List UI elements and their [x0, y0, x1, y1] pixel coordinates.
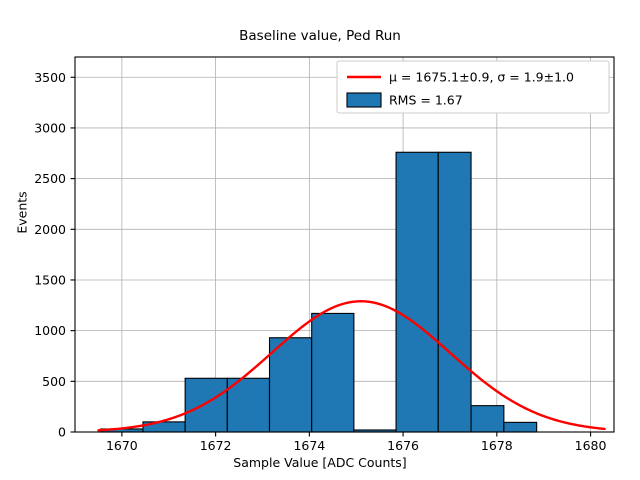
- y-tick-label: 1500: [34, 272, 66, 287]
- chart-figure: Baseline value, Ped Run 1670167216741676…: [0, 0, 640, 480]
- histogram-bar: [504, 422, 537, 432]
- x-tick-label: 1680: [575, 438, 607, 453]
- y-tick-label: 1000: [34, 323, 66, 338]
- legend-entry-label: μ = 1675.1±0.9, σ = 1.9±1.0: [389, 70, 574, 85]
- histogram-bar: [270, 338, 312, 432]
- x-tick-label: 1670: [106, 438, 138, 453]
- y-tick-label: 2000: [34, 222, 66, 237]
- histogram-bar: [438, 152, 471, 432]
- x-tick-label: 1678: [481, 438, 513, 453]
- chart-legend[interactable]: μ = 1675.1±0.9, σ = 1.9±1.0RMS = 1.67: [337, 61, 609, 113]
- y-tick-label: 2500: [34, 171, 66, 186]
- x-axis-label: Sample Value [ADC Counts]: [0, 455, 640, 470]
- histogram-bar: [185, 378, 227, 432]
- legend-entry-label: RMS = 1.67: [389, 93, 463, 108]
- x-tick-label: 1672: [200, 438, 232, 453]
- histogram-bar: [312, 313, 354, 432]
- histogram-bar: [396, 152, 438, 432]
- y-axis-label: Events: [15, 163, 30, 263]
- x-tick-label: 1676: [387, 438, 419, 453]
- legend-patch-marker: [347, 93, 381, 107]
- y-tick-label: 500: [42, 374, 66, 389]
- histogram-bars: [101, 152, 537, 432]
- x-tick-label: 1674: [293, 438, 325, 453]
- plot-canvas: 1670167216741676167816800500100015002000…: [0, 0, 640, 480]
- y-tick-label: 3500: [34, 70, 66, 85]
- histogram-bar: [471, 406, 504, 432]
- y-tick-label: 0: [58, 425, 66, 440]
- y-tick-label: 3000: [34, 120, 66, 135]
